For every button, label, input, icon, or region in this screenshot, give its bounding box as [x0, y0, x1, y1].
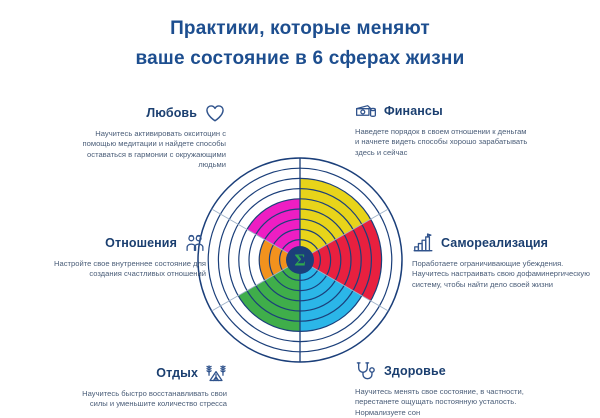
couple-icon: [184, 232, 206, 254]
section-love: Любовь Научитесь активировать окситоцин …: [78, 102, 226, 171]
infographic-root: Практики, которые меняют ваше состояние …: [0, 0, 600, 418]
section-self-realization-title: Самореализация: [441, 236, 548, 250]
section-health-header: Здоровье: [355, 360, 545, 382]
section-health-title: Здоровье: [384, 364, 446, 378]
heart-icon: [204, 102, 226, 124]
balance-wheel-chart: Σ: [190, 150, 410, 370]
center-sigma-logo: Σ: [294, 251, 305, 270]
section-self-realization-header: Самореализация: [412, 232, 590, 254]
money-icon: [355, 100, 377, 122]
section-finance-text: Наведете порядок в своем отношении к ден…: [355, 127, 531, 158]
section-rest-text: Научитесь быстро восстанавливать свои си…: [75, 389, 227, 410]
section-finance: Финансы Наведете порядок в своем отношен…: [355, 100, 531, 158]
section-love-header: Любовь: [78, 102, 226, 124]
section-rest-title: Отдых: [156, 366, 198, 380]
camping-tent-icon: [205, 362, 227, 384]
section-self-realization-text: Поработаете ограничивающие убеждения. На…: [412, 259, 590, 290]
section-relations-header: Отношения: [20, 232, 206, 254]
growth-stairs-icon: [412, 232, 434, 254]
section-relations-title: Отношения: [105, 236, 177, 250]
section-health: Здоровье Научитесь менять свое состояние…: [355, 360, 545, 418]
page-title: Практики, которые меняют ваше состояние …: [0, 14, 600, 74]
title-line-2: ваше состояние в 6 сферах жизни: [0, 44, 600, 74]
section-rest-header: Отдых: [75, 362, 227, 384]
section-relations-text: Настройте свое внутреннее состояние для …: [20, 259, 206, 280]
section-rest: Отдых Научитесь быстро восстанавливать с…: [75, 362, 227, 410]
section-love-text: Научитесь активировать окситоцин с помощ…: [78, 129, 226, 171]
stethoscope-icon: [355, 360, 377, 382]
section-relations: Отношения Настройте свое внутреннее сост…: [20, 232, 206, 280]
wheel-svg: Σ: [190, 150, 410, 370]
section-finance-header: Финансы: [355, 100, 531, 122]
section-finance-title: Финансы: [384, 104, 443, 118]
section-love-title: Любовь: [146, 106, 197, 120]
section-health-text: Научитесь менять свое состояние, в частн…: [355, 387, 545, 418]
title-line-1: Практики, которые меняют: [170, 18, 430, 39]
section-self-realization: Самореализация Поработаете ограничивающи…: [412, 232, 590, 290]
